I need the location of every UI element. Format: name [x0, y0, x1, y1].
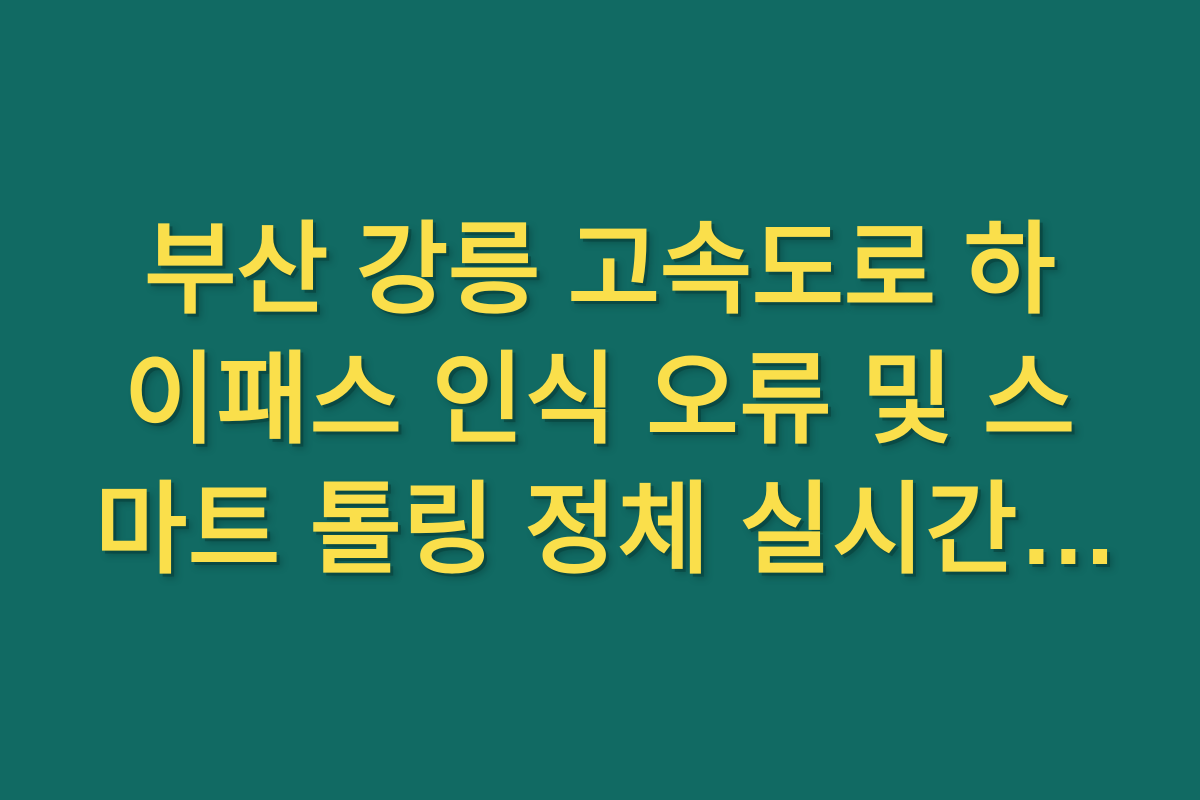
headline-line-2: 이패스 인식 오류 및 스 [95, 335, 1105, 465]
headline-line-1: 부산 강릉 고속도로 하 [95, 205, 1105, 335]
headline-block: 부산 강릉 고속도로 하 이패스 인식 오류 및 스 마트 톨링 정체 실시간… [95, 205, 1105, 595]
title-card: 부산 강릉 고속도로 하 이패스 인식 오류 및 스 마트 톨링 정체 실시간… [0, 0, 1200, 800]
headline-line-3: 마트 톨링 정체 실시간… [95, 465, 1105, 595]
